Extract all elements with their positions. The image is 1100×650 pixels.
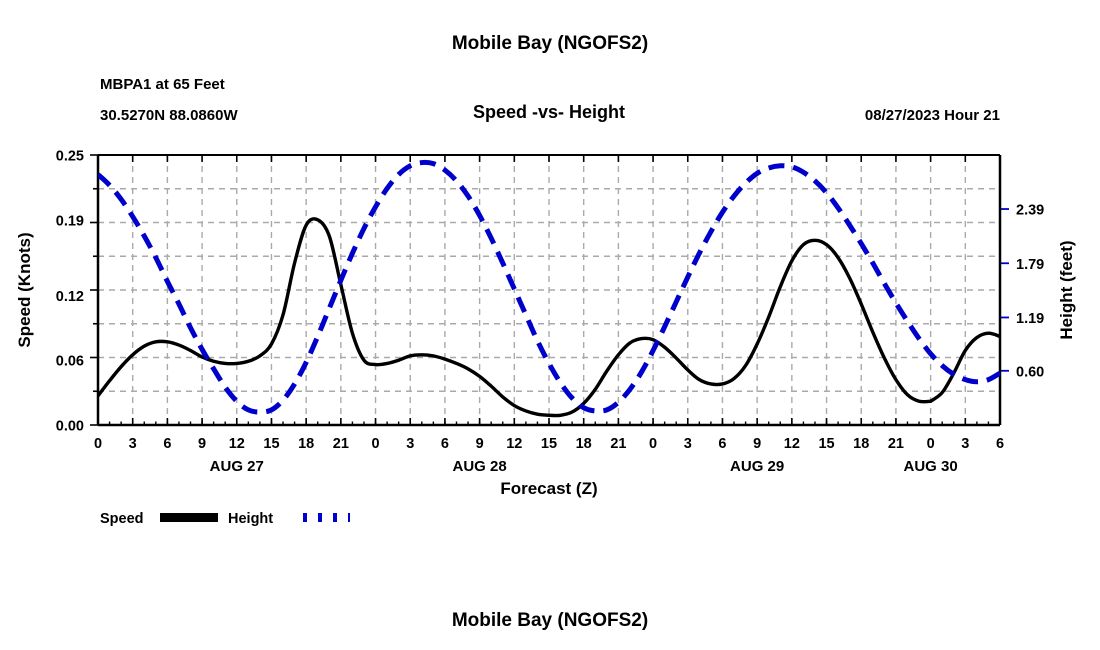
model-run-label: 08/27/2023 Hour 21 [865,107,1000,124]
x-axis-tick-label: 3 [961,436,969,452]
x-axis-tick-labels: 036912151821036912151821036912151821036 [94,436,1004,452]
x-axis-tick-label: 0 [649,436,657,452]
chart-subtitle: Speed -vs- Height [473,102,625,122]
x-axis-tick-label: 15 [541,436,557,452]
y2-axis-tick-label: 0.60 [1016,364,1044,380]
x-axis-tick-label: 6 [718,436,726,452]
y2-axis-tick-label: 1.79 [1016,257,1044,273]
y-axis-title: Speed (Knots) [15,232,34,347]
x-axis-tick-label: 9 [476,436,484,452]
x-axis-tick-label: 6 [163,436,171,452]
figure-background [0,0,1100,650]
x-axis-tick-label: 12 [506,436,522,452]
x-axis-tick-label: 3 [129,436,137,452]
x-axis-tick-label: 6 [996,436,1004,452]
chart-title-top: Mobile Bay (NGOFS2) [452,33,648,54]
x-axis-tick-label: 21 [610,436,626,452]
x-axis-tick-label: 15 [818,436,834,452]
y-axis-tick-label: 0.06 [56,354,84,370]
y-axis-tick-label: 0.25 [56,149,84,165]
x-axis-title: Forecast (Z) [500,479,597,498]
x-axis-tick-label: 21 [888,436,904,452]
legend-label-speed: Speed [100,511,144,527]
x-axis-tick-label: 0 [927,436,935,452]
coordinates-label: 30.5270N 88.0860W [100,107,238,124]
x-axis-tick-label: 3 [406,436,414,452]
y2-axis-title: Height (feet) [1057,240,1076,339]
x-axis-day-label: AUG 29 [730,458,784,475]
x-axis-tick-label: 21 [333,436,349,452]
x-axis-tick-label: 18 [298,436,314,452]
x-axis-tick-label: 12 [784,436,800,452]
x-axis-tick-label: 15 [263,436,279,452]
x-axis-tick-label: 3 [684,436,692,452]
x-axis-tick-label: 18 [853,436,869,452]
legend-swatch-speed [160,513,218,522]
x-axis-tick-label: 6 [441,436,449,452]
legend-label-height: Height [228,511,273,527]
x-axis-tick-label: 0 [371,436,379,452]
x-axis-tick-label: 9 [753,436,761,452]
station-label: MBPA1 at 65 Feet [100,76,225,93]
y2-axis-tick-label: 1.19 [1016,311,1044,327]
x-axis-tick-label: 9 [198,436,206,452]
x-axis-day-label: AUG 28 [453,458,507,475]
x-axis-tick-label: 18 [576,436,592,452]
y-axis-tick-label: 0.19 [56,213,84,229]
y2-axis-tick-label: 2.39 [1016,203,1044,219]
y-axis-tick-label: 0.12 [56,289,84,305]
x-axis-day-label: AUG 27 [210,458,264,475]
x-axis-tick-label: 0 [94,436,102,452]
x-axis-tick-label: 12 [229,436,245,452]
chart-title-bottom: Mobile Bay (NGOFS2) [452,610,648,631]
chart-figure: Mobile Bay (NGOFS2) MBPA1 at 65 Feet 30.… [0,0,1100,650]
x-axis-day-label: AUG 30 [904,458,958,475]
y-axis-tick-label: 0.00 [56,419,84,435]
